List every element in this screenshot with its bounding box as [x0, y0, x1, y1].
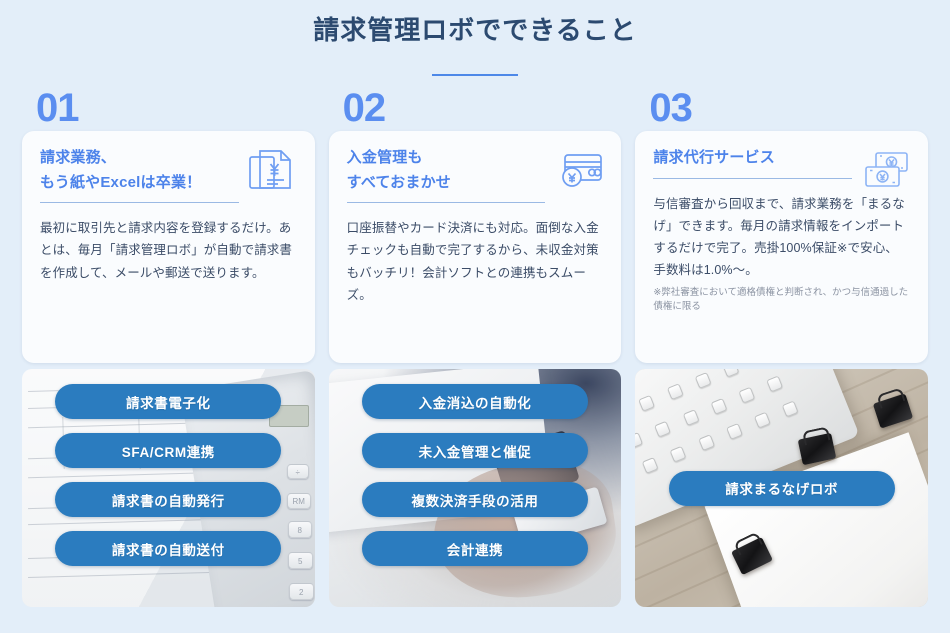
- card-title-line-1: 請求業務、: [40, 147, 239, 172]
- card-head-03: 請求代行サービス: [653, 147, 910, 179]
- feature-photo-panel-03: 請求まるなげロボ: [635, 369, 928, 607]
- page-header: 請求管理ロボでできること: [0, 0, 950, 76]
- step-number-02: 02: [329, 88, 622, 131]
- invoice-document-yen-icon: [247, 147, 299, 195]
- card-title-line-2: もう紙やExcelは卒業！: [40, 172, 239, 197]
- page-root: 請求管理ロボでできること 01 請求業務、 もう紙やExcelは卒業！: [0, 0, 950, 633]
- banknotes-yen-icon: [860, 147, 912, 195]
- credit-card-yen-icon: [553, 147, 605, 195]
- feature-column-03: 03 請求代行サービス: [635, 88, 928, 607]
- feature-pill-button[interactable]: 会計連携: [362, 531, 588, 566]
- feature-pill-list-02: 入金消込の自動化 未入金管理と催促 複数決済手段の活用 会計連携: [329, 369, 622, 607]
- card-body-01: 最初に取引先と請求内容を登録するだけ。あとは、毎月「請求管理ロボ」が自動で請求書…: [40, 217, 297, 284]
- card-title-rule: [347, 202, 546, 203]
- title-divider: [432, 74, 518, 76]
- feature-pill-button[interactable]: SFA/CRM連携: [55, 433, 281, 468]
- feature-card-02: 入金管理も すべておまかせ: [329, 131, 622, 363]
- feature-pill-button[interactable]: 未入金管理と催促: [362, 433, 588, 468]
- feature-column-01: 01 請求業務、 もう紙やExcelは卒業！: [22, 88, 315, 607]
- feature-column-02: 02 入金管理も すべておまかせ: [329, 88, 622, 607]
- feature-pill-list-03: 請求まるなげロボ: [635, 369, 928, 607]
- card-title-rule: [653, 178, 852, 179]
- feature-card-03: 請求代行サービス: [635, 131, 928, 363]
- card-body-02: 口座振替やカード決済にも対応。面倒な入金チェックも自動で完了するから、未収金対策…: [347, 217, 604, 306]
- feature-pill-button[interactable]: 請求書の自動送付: [55, 531, 281, 566]
- step-number-03: 03: [635, 88, 928, 131]
- feature-pill-button[interactable]: 請求書の自動発行: [55, 482, 281, 517]
- feature-pill-list-01: 請求書電子化 SFA/CRM連携 請求書の自動発行 請求書の自動送付: [22, 369, 315, 607]
- page-title: 請求管理ロボでできること: [0, 14, 950, 48]
- feature-pill-button[interactable]: 請求まるなげロボ: [669, 471, 895, 506]
- card-head-01: 請求業務、 もう紙やExcelは卒業！: [40, 147, 297, 203]
- card-head-02: 入金管理も すべておまかせ: [347, 147, 604, 203]
- feature-columns: 01 請求業務、 もう紙やExcelは卒業！: [22, 88, 928, 607]
- card-title-rule: [40, 202, 239, 203]
- card-title-line-1: 請求代行サービス: [653, 147, 852, 172]
- feature-photo-panel-01: ÷ RM 8 5 2 請求書電子化 SFA/CRM連携 請求書の自動発行 請求書…: [22, 369, 315, 607]
- feature-pill-button[interactable]: 複数決済手段の活用: [362, 482, 588, 517]
- feature-card-01: 請求業務、 もう紙やExcelは卒業！ 最初に取: [22, 131, 315, 363]
- feature-pill-button[interactable]: 請求書電子化: [55, 384, 281, 419]
- step-number-01: 01: [22, 88, 315, 131]
- card-title-line-1: 入金管理も: [347, 147, 546, 172]
- card-body-03: 与信審査から回収まで、請求業務を「まるなげ」できます。毎月の請求情報をインポート…: [653, 193, 910, 282]
- card-footnote-03: ※弊社審査において適格債権と判断され、かつ与信通過した債権に限る: [653, 286, 910, 315]
- feature-pill-button[interactable]: 入金消込の自動化: [362, 384, 588, 419]
- card-title-line-2: すべておまかせ: [347, 172, 546, 197]
- feature-photo-panel-02: 入金消込の自動化 未入金管理と催促 複数決済手段の活用 会計連携: [329, 369, 622, 607]
